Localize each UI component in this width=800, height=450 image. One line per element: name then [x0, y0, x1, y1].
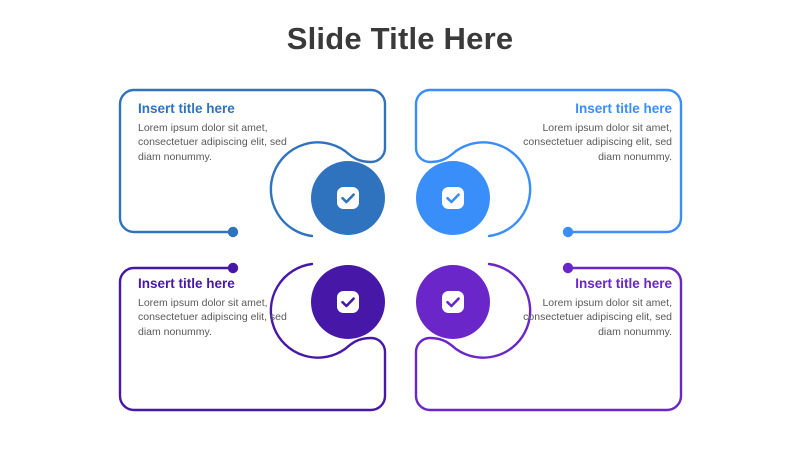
connector-dot-top-left	[228, 227, 238, 237]
check-circle-icon	[337, 187, 359, 209]
check-circle-icon	[442, 187, 464, 209]
panel-text-bottom-left: Insert title here Lorem ipsum dolor sit …	[138, 276, 288, 340]
connector-dot-top-right	[563, 227, 573, 237]
panel-text-bottom-right: Insert title here Lorem ipsum dolor sit …	[522, 276, 672, 340]
connector-dot-bottom-left	[228, 263, 238, 273]
slide-canvas: Slide Title Here	[0, 0, 800, 450]
check-circle-icon	[337, 291, 359, 313]
infographic-vector-layer	[0, 0, 800, 450]
panel-title-bottom-left: Insert title here	[138, 276, 288, 292]
panel-title-top-left: Insert title here	[138, 101, 288, 117]
panel-body-bottom-left: Lorem ipsum dolor sit amet, consectetuer…	[138, 296, 288, 341]
panel-text-top-left: Insert title here Lorem ipsum dolor sit …	[138, 101, 288, 165]
panel-title-bottom-right: Insert title here	[522, 276, 672, 292]
panel-title-top-right: Insert title here	[522, 101, 672, 117]
panel-body-top-left: Lorem ipsum dolor sit amet, consectetuer…	[138, 121, 288, 166]
panel-text-top-right: Insert title here Lorem ipsum dolor sit …	[522, 101, 672, 165]
connector-dot-bottom-right	[563, 263, 573, 273]
panel-body-top-right: Lorem ipsum dolor sit amet, consectetuer…	[522, 121, 672, 166]
check-circle-icon	[442, 291, 464, 313]
panel-body-bottom-right: Lorem ipsum dolor sit amet, consectetuer…	[522, 296, 672, 341]
